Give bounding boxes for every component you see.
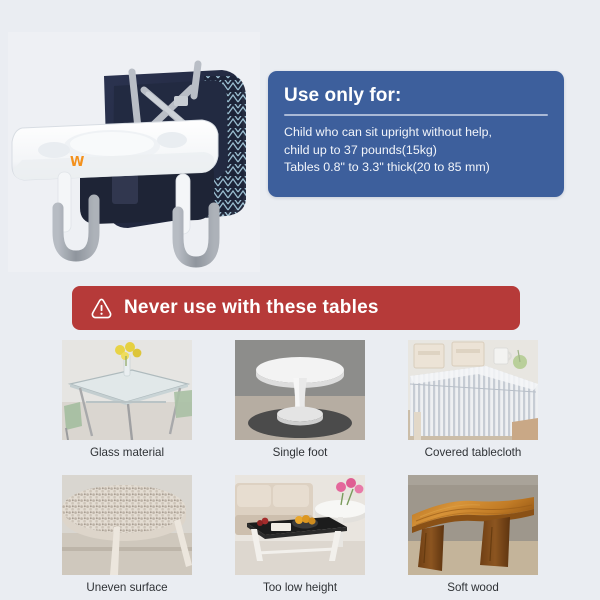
glass-table-photo — [62, 340, 192, 440]
warning-triangle-exclamation-icon — [90, 297, 113, 320]
use-only-for-card: Use only for: Child who can sit upright … — [268, 71, 564, 197]
info-card-title: Use only for: — [284, 85, 548, 107]
info-line-1: Child who can sit upright without help, — [284, 124, 548, 142]
table-cell-label: Too low height — [235, 581, 365, 595]
uneven-surface-table-photo — [62, 475, 192, 575]
table-cell-covered-tablecloth: Covered tablecloth — [408, 340, 538, 460]
pedestal-table-photo — [235, 340, 365, 440]
tablecloth-table-photo — [408, 340, 538, 440]
low-coffee-table-photo — [235, 475, 365, 575]
table-cell-soft-wood: Soft wood — [408, 475, 538, 595]
product-logo: W — [70, 155, 84, 170]
product-hero-section: W Use only for: Child who can sit uprigh… — [0, 0, 600, 278]
info-card-body: Child who can sit upright without help, … — [284, 124, 548, 177]
info-line-2: child up to 37 pounds(15kg) — [284, 142, 548, 160]
product-image: W — [8, 32, 260, 272]
warning-banner: Never use with these tables — [72, 286, 520, 330]
table-cell-label: Glass material — [62, 446, 192, 460]
forbidden-tables-grid: Glass material Single foot — [62, 340, 538, 595]
table-cell-label: Covered tablecloth — [408, 446, 538, 460]
table-cell-single-foot: Single foot — [235, 340, 365, 460]
info-line-3: Tables 0.8" to 3.3" thick(20 to 85 mm) — [284, 159, 548, 177]
soft-wood-table-photo — [408, 475, 538, 575]
warning-title: Never use with these tables — [124, 297, 379, 319]
table-cell-uneven-surface: Uneven surface — [62, 475, 192, 595]
info-card-divider — [284, 114, 548, 116]
table-cell-glass-material: Glass material — [62, 340, 192, 460]
table-cell-label: Single foot — [235, 446, 365, 460]
table-cell-label: Soft wood — [408, 581, 538, 595]
table-cell-too-low-height: Too low height — [235, 475, 365, 595]
table-cell-label: Uneven surface — [62, 581, 192, 595]
